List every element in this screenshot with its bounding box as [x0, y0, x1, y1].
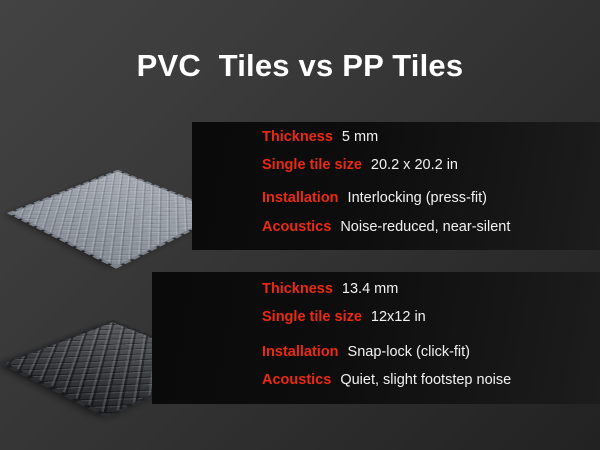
spec-value-installation: Snap-lock (click-fit): [348, 344, 470, 360]
spec-label-thickness: Thickness: [262, 129, 333, 145]
spec-row: Single tile size 12x12 in: [262, 309, 426, 325]
spec-value-thickness: 5 mm: [342, 129, 378, 145]
spec-row: Acoustics Quiet, slight footstep noise: [262, 372, 511, 388]
spec-label-installation: Installation: [262, 190, 339, 206]
spec-value-tile-size: 12x12 in: [371, 309, 426, 325]
spec-row: Installation Snap-lock (click-fit): [262, 344, 470, 360]
spec-label-thickness: Thickness: [262, 281, 333, 297]
pvc-spec-panel: Thickness 5 mm Single tile size 20.2 x 2…: [192, 122, 600, 250]
pp-spec-panel: Thickness 13.4 mm Single tile size 12x12…: [152, 272, 600, 404]
spec-value-acoustics: Noise-reduced, near-silent: [340, 219, 510, 235]
spec-row: Installation Interlocking (press-fit): [262, 190, 487, 206]
spec-row: Acoustics Noise-reduced, near-silent: [262, 219, 510, 235]
pvc-tile-diamond-plate-icon: [12, 172, 222, 266]
page-title: PVC Tiles vs PP Tiles: [0, 48, 600, 84]
spec-value-tile-size: 20.2 x 20.2 in: [371, 157, 458, 173]
spec-row: Thickness 5 mm: [262, 129, 378, 145]
spec-label-installation: Installation: [262, 344, 339, 360]
spec-value-acoustics: Quiet, slight footstep noise: [340, 372, 511, 388]
spec-value-installation: Interlocking (press-fit): [348, 190, 487, 206]
spec-label-acoustics: Acoustics: [262, 219, 331, 235]
spec-label-tile-size: Single tile size: [262, 157, 362, 173]
infographic-canvas: PVC Tiles vs PP Tiles Thickness 5 mm Sin…: [0, 0, 600, 450]
spec-row: Single tile size 20.2 x 20.2 in: [262, 157, 458, 173]
spec-row: Thickness 13.4 mm: [262, 281, 398, 297]
spec-label-acoustics: Acoustics: [262, 372, 331, 388]
spec-value-thickness: 13.4 mm: [342, 281, 398, 297]
spec-label-tile-size: Single tile size: [262, 309, 362, 325]
